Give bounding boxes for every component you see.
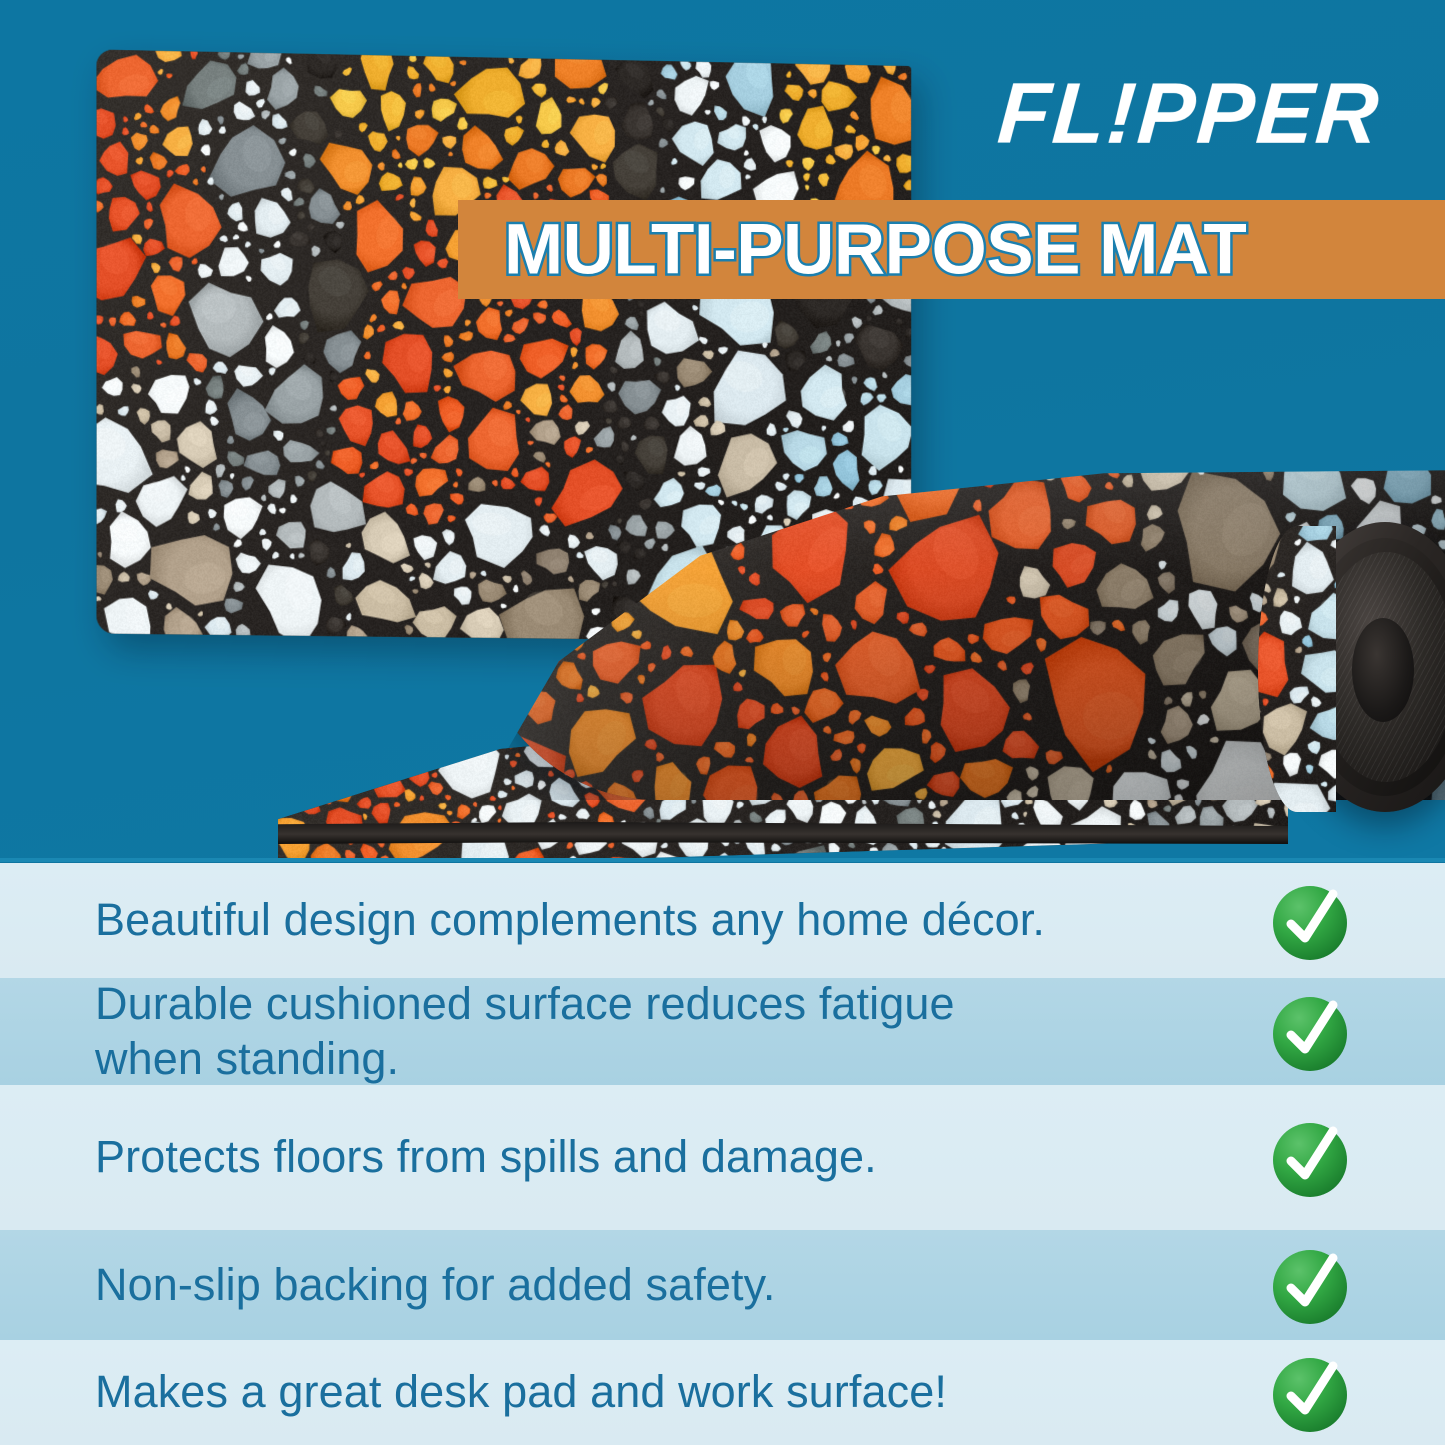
- rolled-mat-end-cap: [1290, 522, 1445, 812]
- feature-row: Non-slip backing for added safety.: [0, 1230, 1445, 1340]
- page-title: MULTI-PURPOSE MAT: [504, 214, 1246, 285]
- feature-row: Durable cushioned surface reduces fatigu…: [0, 978, 1445, 1085]
- feature-text: Protects floors from spills and damage.: [95, 1130, 1243, 1185]
- title-band: MULTI-PURPOSE MAT: [458, 200, 1445, 299]
- brand-logo: FL!PPER: [945, 64, 1384, 164]
- feature-text: Durable cushioned surface reduces fatigu…: [95, 977, 1243, 1087]
- feature-row: Beautiful design complements any home dé…: [0, 863, 1445, 978]
- feature-list: Beautiful design complements any home dé…: [0, 863, 1445, 1445]
- feature-text: Non-slip backing for added safety.: [95, 1258, 1243, 1313]
- green-check-circle-icon: [1267, 1115, 1353, 1201]
- feature-text: Makes a great desk pad and work surface!: [95, 1365, 1243, 1420]
- end-cap-pattern-wrap: [1258, 526, 1336, 812]
- green-check-circle-icon: [1267, 1350, 1353, 1436]
- rolled-mat-tail-edge: [278, 822, 1288, 844]
- feature-row: Makes a great desk pad and work surface!: [0, 1340, 1445, 1445]
- rolled-mat-image: [278, 470, 1418, 862]
- feature-row: Protects floors from spills and damage.: [0, 1085, 1445, 1230]
- green-check-circle-icon: [1267, 1242, 1353, 1328]
- end-cap-core: [1352, 618, 1414, 722]
- feature-text: Beautiful design complements any home dé…: [95, 893, 1243, 948]
- green-check-circle-icon: [1267, 878, 1353, 964]
- hero-section: FL!PPER MULTI-PURPOSE MAT: [0, 0, 1445, 862]
- green-check-circle-icon: [1267, 989, 1353, 1075]
- hero-divider: [0, 858, 1445, 862]
- product-infographic: FL!PPER MULTI-PURPOSE MAT Beautiful desi…: [0, 0, 1445, 1445]
